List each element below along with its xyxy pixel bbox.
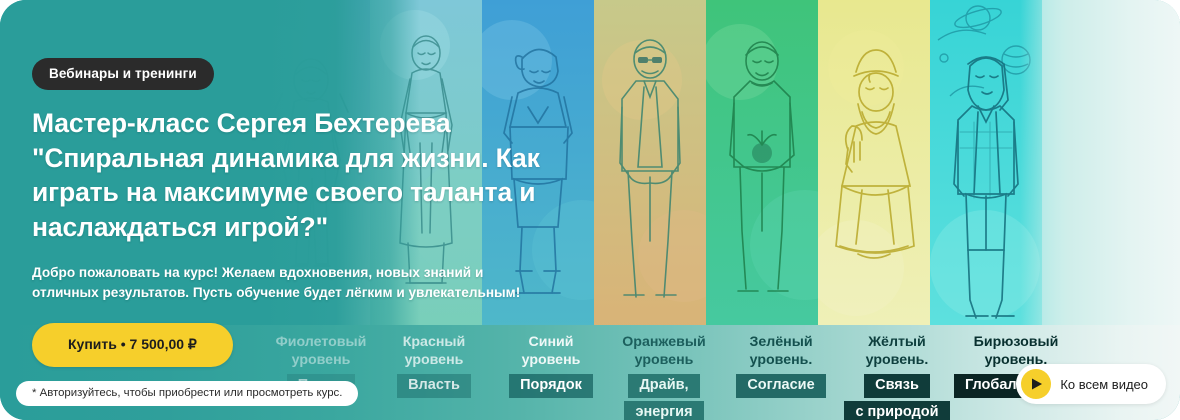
level-tag: Власть [397, 374, 471, 398]
figure-businessman [594, 27, 706, 322]
level-name: Оранжевый уровень [600, 333, 728, 369]
play-icon [1021, 369, 1051, 399]
level-tag: Порядок [509, 374, 593, 398]
level-name: Зелёный уровень. [718, 333, 844, 369]
hero-description: Добро пожаловать на курс! Желаем вдохнов… [32, 263, 542, 304]
level-column: Оранжевый уровеньДрайв,энергияуспеха [600, 325, 728, 420]
buy-button[interactable]: Купить • 7 500,00 ₽ [32, 323, 233, 367]
level-tag: с природой [844, 401, 949, 420]
figure-gardener [706, 27, 818, 322]
level-tags: Драйв,энергияуспеха [600, 374, 728, 420]
level-tag: Драйв, [628, 374, 699, 398]
page-title: Мастер-класс Сергея Бехтерева "Спиральна… [32, 106, 552, 245]
hero-content: Вебинары и тренинги Мастер-класс Сергея … [32, 58, 592, 367]
all-videos-button[interactable]: Ко всем видео [1016, 364, 1166, 404]
level-tags: Власть [378, 374, 490, 398]
illustration-band-gardener [706, 0, 818, 330]
level-tags: Согласие [718, 374, 844, 398]
illustration-right-fade [1020, 0, 1180, 330]
level-tag: Связь [864, 374, 930, 398]
category-badge: Вебинары и тренинги [32, 58, 214, 90]
figure-sage [818, 30, 930, 320]
illustration-band-sage [818, 0, 930, 330]
level-tags: Порядок [492, 374, 610, 398]
auth-notice: * Авторизуйтесь, чтобы приобрести или пр… [16, 381, 358, 406]
illustration-band-businessman [594, 0, 706, 330]
level-tag: Согласие [736, 374, 825, 398]
level-column: Зелёный уровень.Согласие [718, 325, 844, 420]
all-videos-label: Ко всем видео [1060, 377, 1148, 392]
level-tag: энергия [624, 401, 703, 420]
course-hero-card: Вебинары и тренинги Мастер-класс Сергея … [0, 0, 1180, 420]
